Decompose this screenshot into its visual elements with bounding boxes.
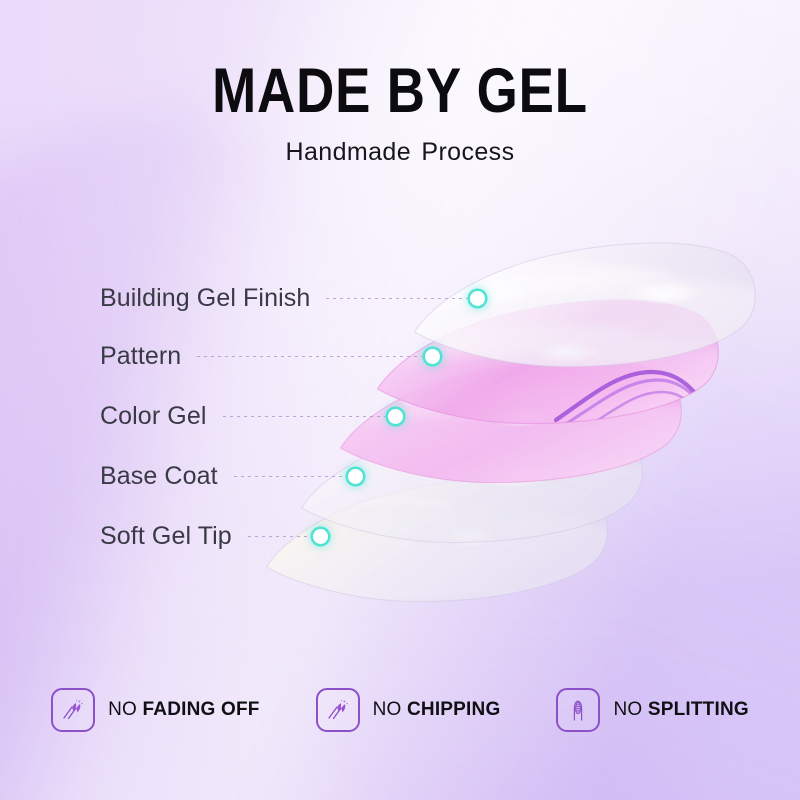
leader-line [248,536,314,537]
feature-label-no-fading-off: NO FADING OFF [108,699,259,721]
leader-line [223,416,390,417]
callout-building-gel-finish[interactable]: Building Gel Finish [100,281,485,315]
nail-strokes-icon [51,688,95,732]
feature-strong: CHIPPING [407,699,500,720]
feature-no-chipping[interactable]: NO CHIPPING [316,688,501,732]
feature-lead: NO [613,699,642,720]
feature-lead: NO [373,699,402,720]
feature-label-no-chipping: NO CHIPPING [373,699,501,721]
callout-node-icon [348,469,363,484]
feature-strong: FADING OFF [143,699,260,720]
callout-pattern[interactable]: Pattern [100,339,440,373]
nail-strokes-icon [316,688,360,732]
callout-node-icon [388,409,403,424]
poster-canvas: MADE BY GEL Handmade Process [0,0,800,800]
callout-base-coat[interactable]: Base Coat [100,459,363,493]
callout-soft-gel-tip[interactable]: Soft Gel Tip [100,519,328,553]
callout-node-icon [470,291,485,306]
leader-line [326,298,471,299]
callout-label-base-coat: Base Coat [100,462,218,491]
feature-no-fading-off[interactable]: NO FADING OFF [51,688,259,732]
callout-label-color-gel: Color Gel [100,402,207,431]
callout-label-pattern: Pattern [100,342,181,371]
nail-tip-icon [556,688,600,732]
callout-node-icon [425,349,440,364]
feature-strong: SPLITTING [648,699,749,720]
leader-line [197,356,426,357]
callout-list: Building Gel Finish Pattern Color Gel Ba… [0,0,800,800]
callout-node-icon [313,529,328,544]
feature-no-splitting[interactable]: NO SPLITTING [556,688,748,732]
callout-label-soft-gel-tip: Soft Gel Tip [100,522,232,551]
feature-label-no-splitting: NO SPLITTING [613,699,748,721]
callout-label-building-gel-finish: Building Gel Finish [100,284,310,313]
feature-badge-list: NO FADING OFF [0,688,800,732]
leader-line [234,476,349,477]
callout-color-gel[interactable]: Color Gel [100,399,403,433]
feature-lead: NO [108,699,137,720]
